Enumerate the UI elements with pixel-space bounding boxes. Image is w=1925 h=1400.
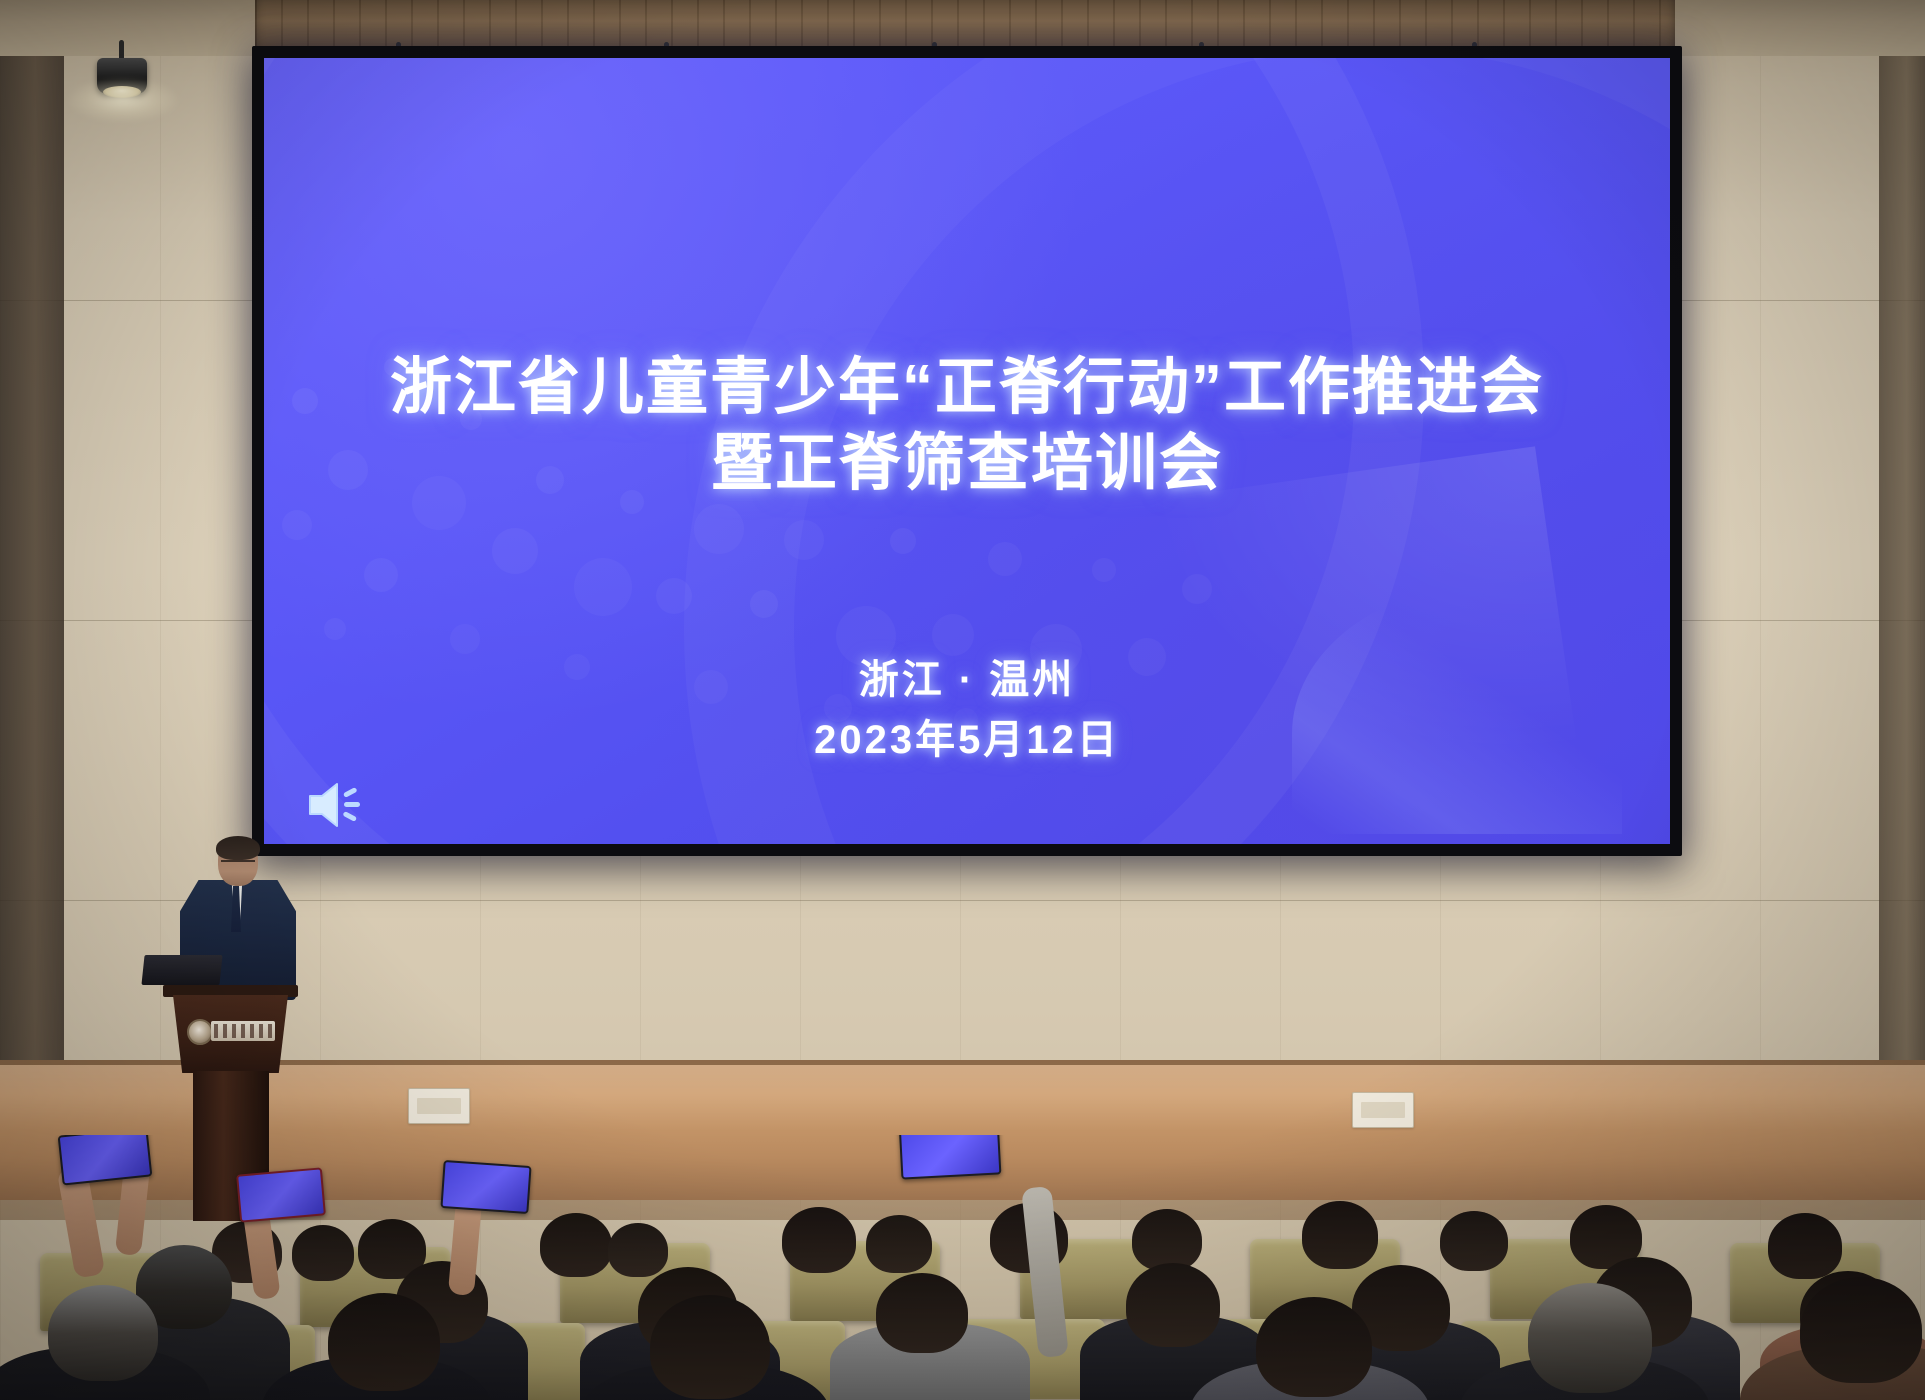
audience-head [866, 1215, 932, 1273]
audience-phone [440, 1160, 531, 1214]
audience-head [782, 1207, 856, 1273]
audience-head [1440, 1211, 1508, 1271]
event-date: 2023年5月12日 [264, 710, 1670, 770]
title-line-1: 浙江省儿童青少年“正脊行动”工作推进会 [264, 350, 1670, 426]
audience-head [650, 1295, 770, 1399]
audience-head [1768, 1213, 1842, 1279]
left-wall-pillar [0, 56, 64, 1136]
title-line-2: 暨正脊筛查培训会 [264, 426, 1670, 502]
led-display-screen: 浙江省儿童青少年“正脊行动”工作推进会 暨正脊筛查培训会 浙江 · 温州 202… [252, 46, 1682, 856]
podium-laptop [141, 955, 222, 985]
audience-head [1528, 1283, 1652, 1393]
presentation-title: 浙江省儿童青少年“正脊行动”工作推进会 暨正脊筛查培训会 [264, 350, 1670, 501]
presenter-hair [216, 836, 260, 860]
audience-head [1800, 1277, 1922, 1383]
wall-outlet [408, 1088, 470, 1124]
screen-text-content: 浙江省儿童青少年“正脊行动”工作推进会 暨正脊筛查培训会 浙江 · 温州 202… [264, 58, 1670, 844]
audience-head [1256, 1297, 1372, 1397]
audience-head [292, 1225, 354, 1281]
screen-surface: 浙江省儿童青少年“正脊行动”工作推进会 暨正脊筛查培训会 浙江 · 温州 202… [264, 58, 1670, 844]
audience-phone [899, 1135, 1002, 1180]
presentation-subtitle: 浙江 · 温州 2023年5月12日 [264, 650, 1670, 770]
audience-phone [236, 1167, 326, 1222]
audience-head [48, 1285, 158, 1381]
lectern-front-panel [173, 995, 288, 1073]
conference-hall-photo: 浙江省儿童青少年“正脊行动”工作推进会 暨正脊筛查培训会 浙江 · 温州 202… [0, 0, 1925, 1400]
institution-emblem-icon [187, 1019, 213, 1045]
speaker-volume-icon[interactable] [304, 776, 366, 834]
wall-outlet [1352, 1092, 1414, 1128]
spotlight-glow [68, 78, 178, 122]
audience-head [608, 1223, 668, 1277]
presenter-glasses [221, 860, 255, 870]
lectern-nameplate [211, 1021, 275, 1041]
audience-head [1302, 1201, 1378, 1269]
audience-head [1126, 1263, 1220, 1347]
right-wall-pillar [1879, 56, 1925, 1116]
audience-head [876, 1273, 968, 1353]
audience-head [540, 1213, 612, 1277]
audience-head [1132, 1209, 1202, 1271]
audience-area [0, 1135, 1925, 1400]
event-place: 浙江 · 温州 [264, 650, 1670, 710]
audience-head [328, 1293, 440, 1391]
